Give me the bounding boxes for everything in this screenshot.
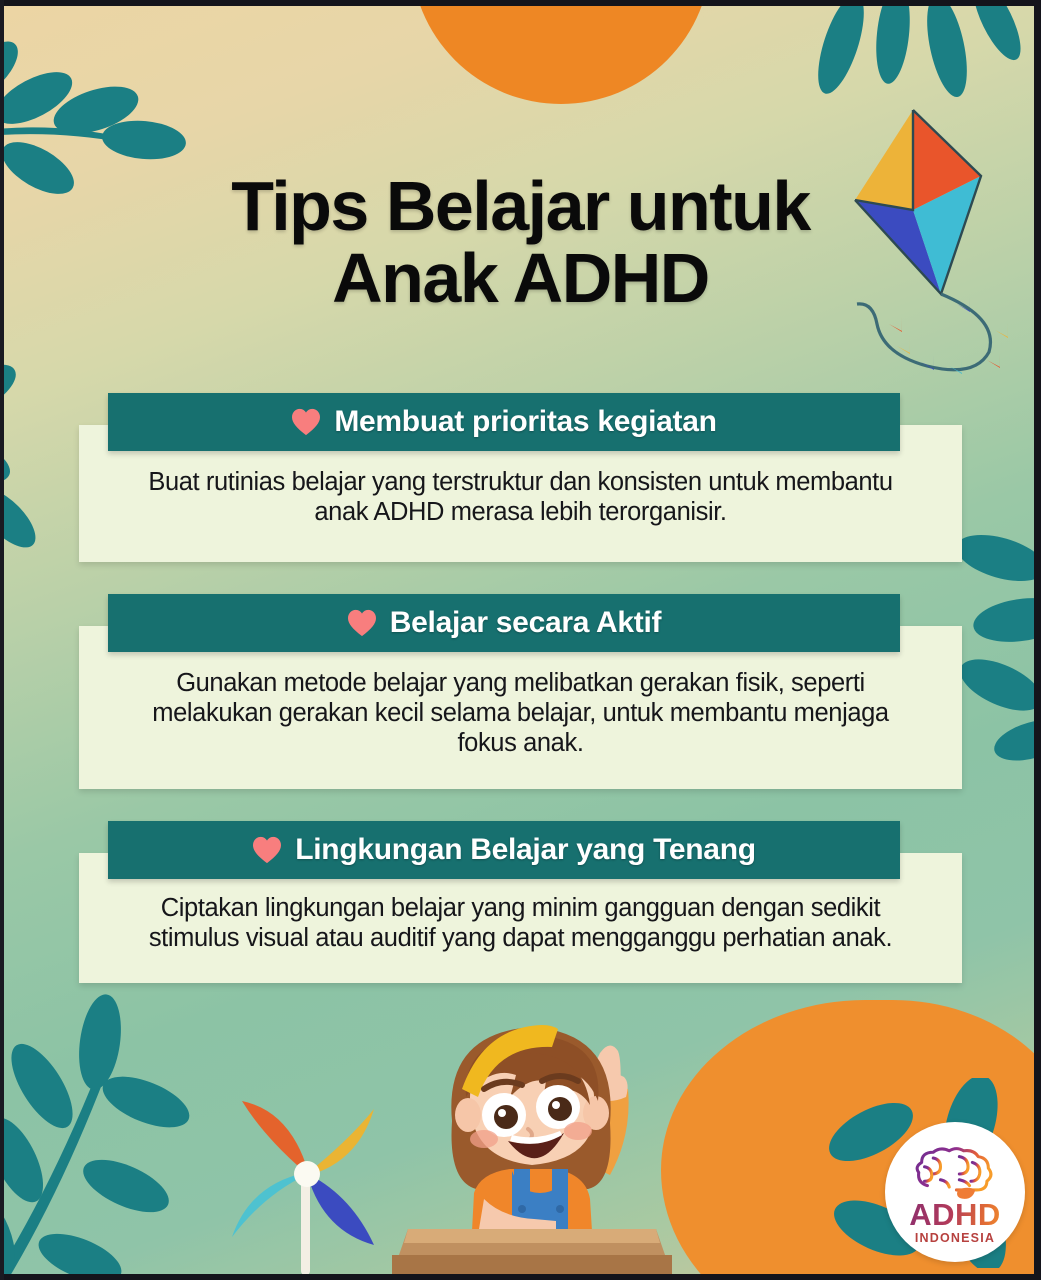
screen-frame-top xyxy=(0,0,1041,6)
logo-title: ADHD xyxy=(909,1199,1001,1230)
tip-card-header: Belajar secara Aktif xyxy=(108,594,900,652)
heart-icon xyxy=(291,408,321,436)
tip-card-header: Membuat prioritas kegiatan xyxy=(108,393,900,451)
tip-card-header: Lingkungan Belajar yang Tenang xyxy=(108,821,900,879)
page-title: Tips Belajar untuk Anak ADHD xyxy=(0,172,1041,314)
tip-card-title: Membuat prioritas kegiatan xyxy=(334,405,716,439)
tip-card-title: Belajar secara Aktif xyxy=(390,606,661,640)
tip-card-title: Lingkungan Belajar yang Tenang xyxy=(295,833,756,867)
heart-icon xyxy=(347,609,377,637)
screen-frame-left xyxy=(0,0,4,1280)
screen-frame-bottom xyxy=(0,1274,1041,1280)
title-line-2: Anak ADHD xyxy=(90,244,951,313)
tip-card-text: Ciptakan lingkungan belajar yang minim g… xyxy=(125,893,916,954)
infographic-poster: Tips Belajar untuk Anak ADHD Membuat pri… xyxy=(0,0,1041,1280)
tip-card-text: Gunakan metode belajar yang melibatkan g… xyxy=(125,668,916,759)
orange-circle-shape xyxy=(411,0,711,104)
screen-frame-right xyxy=(1034,0,1041,1280)
heart-icon xyxy=(252,836,282,864)
tips-list: Membuat prioritas kegiatan Buat rutinias… xyxy=(0,393,1041,1015)
title-line-1: Tips Belajar untuk xyxy=(90,172,951,241)
brain-icon xyxy=(911,1145,999,1203)
tip-card: Lingkungan Belajar yang Tenang Ciptakan … xyxy=(0,821,1041,984)
adhd-indonesia-logo: ADHD INDONESIA xyxy=(885,1122,1025,1262)
logo-subtitle: INDONESIA xyxy=(915,1231,995,1245)
tip-card: Membuat prioritas kegiatan Buat rutinias… xyxy=(0,393,1041,562)
pinwheel-icon xyxy=(218,1085,398,1280)
girl-at-desk-icon xyxy=(392,993,672,1280)
teal-leaf-branch-icon xyxy=(0,990,230,1280)
tip-card-text: Buat rutinias belajar yang terstruktur d… xyxy=(125,467,916,528)
tip-card: Belajar secara Aktif Gunakan metode bela… xyxy=(0,594,1041,789)
